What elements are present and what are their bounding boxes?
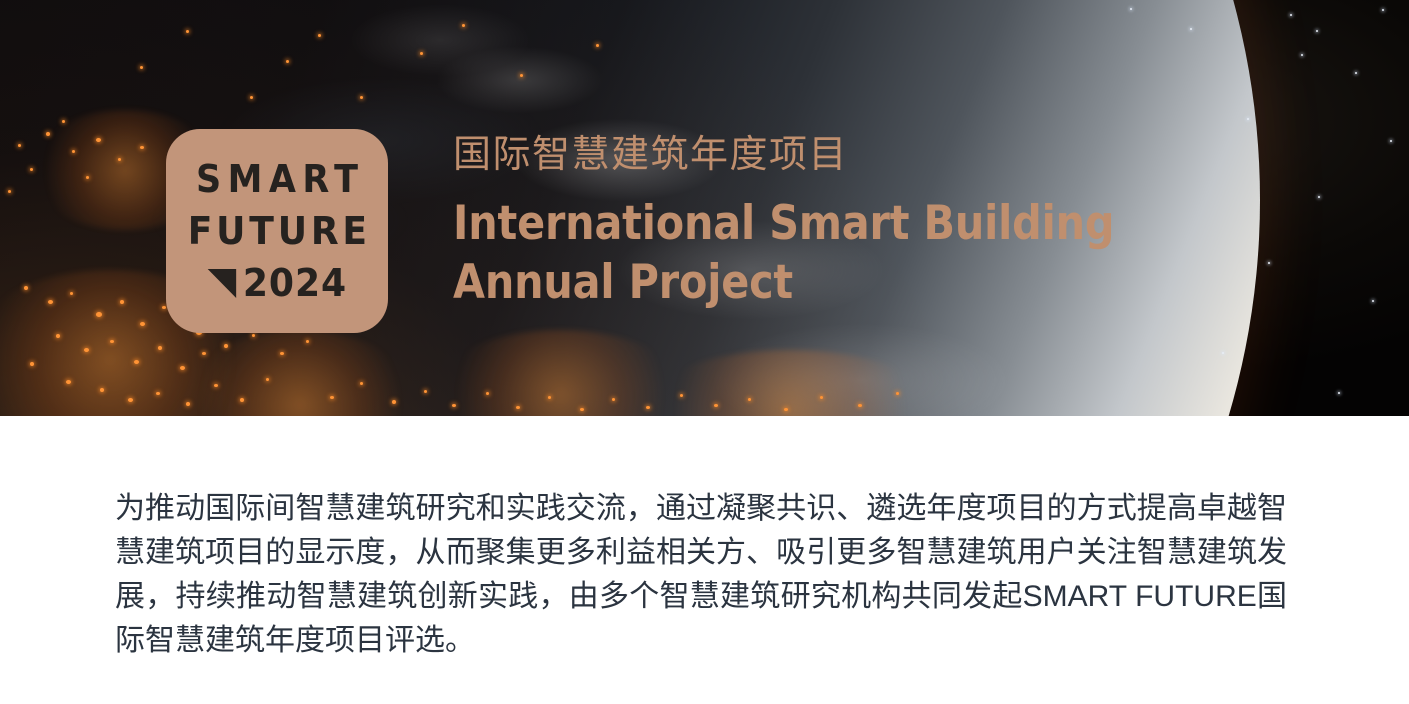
logo-year-row: 2024 [207,264,346,302]
page-root: SMART FUTURE 2024 国际智慧建筑年度项目 Internation… [0,0,1409,704]
intro-paragraph: 为推动国际间智慧建筑研究和实践交流，通过凝聚共识、遴选年度项目的方式提高卓越智慧… [115,487,1287,663]
hero-title-chinese: 国际智慧建筑年度项目 [453,134,1204,178]
hero-titles: 国际智慧建筑年度项目 International Smart Building … [453,134,1204,313]
logo-line-future: FUTURE [184,212,371,250]
intro-section: 为推动国际间智慧建筑研究和实践交流，通过凝聚共识、遴选年度项目的方式提高卓越智慧… [0,416,1409,704]
hero-content: SMART FUTURE 2024 国际智慧建筑年度项目 Internation… [0,0,1409,416]
smart-future-logo-badge: SMART FUTURE 2024 [166,129,388,333]
triangle-down-right-icon [207,269,236,298]
logo-line-smart: SMART [190,160,365,198]
hero-banner: SMART FUTURE 2024 国际智慧建筑年度项目 Internation… [0,0,1409,416]
hero-title-english: International Smart Building Annual Proj… [453,194,1114,313]
logo-year: 2024 [242,264,346,302]
